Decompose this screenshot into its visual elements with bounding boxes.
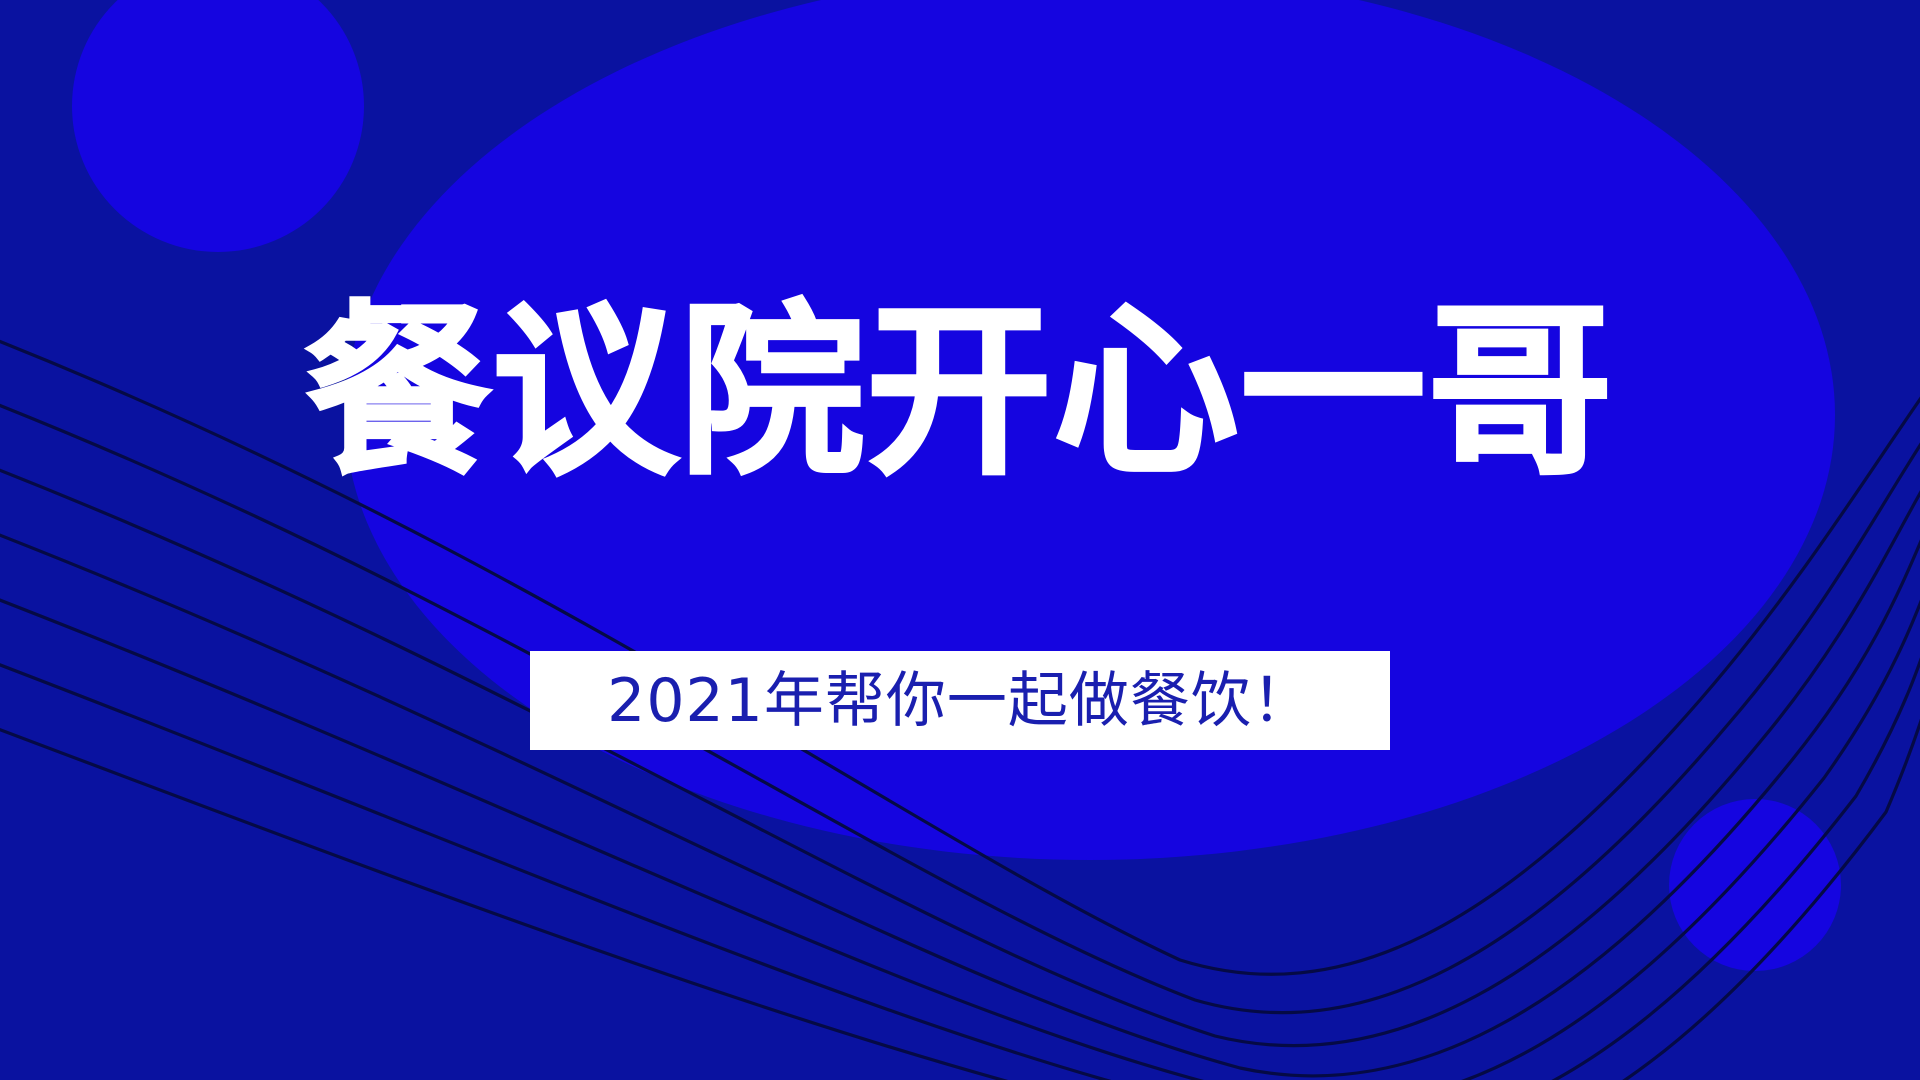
subtitle-banner: 2021年帮你一起做餐饮！	[530, 651, 1390, 750]
subtitle-text: 2021年帮你一起做餐饮！	[607, 671, 1313, 731]
page-title: 餐议院开心一哥	[0, 300, 1920, 485]
poster-canvas: 餐议院开心一哥 2021年帮你一起做餐饮！	[0, 0, 1920, 1080]
content-layer: 餐议院开心一哥 2021年帮你一起做餐饮！	[0, 0, 1920, 1080]
